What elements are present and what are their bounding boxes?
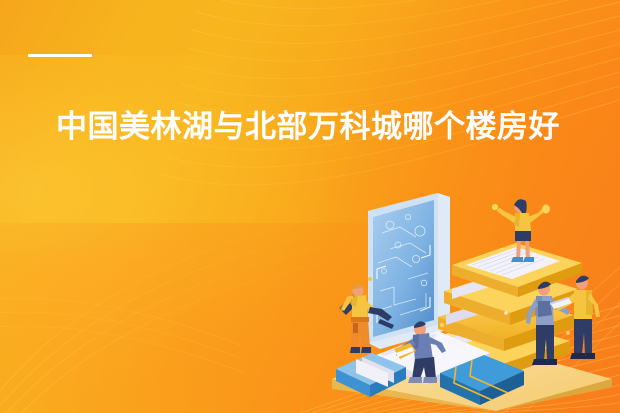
illustration-people-books-smartphone bbox=[320, 183, 620, 413]
title-divider-rule bbox=[28, 54, 92, 57]
page-title: 中国美林湖与北部万科城哪个楼房好 bbox=[56, 99, 566, 154]
cover-card: 中国美林湖与北部万科城哪个楼房好 bbox=[0, 0, 620, 413]
smartphone-icon bbox=[368, 193, 450, 349]
